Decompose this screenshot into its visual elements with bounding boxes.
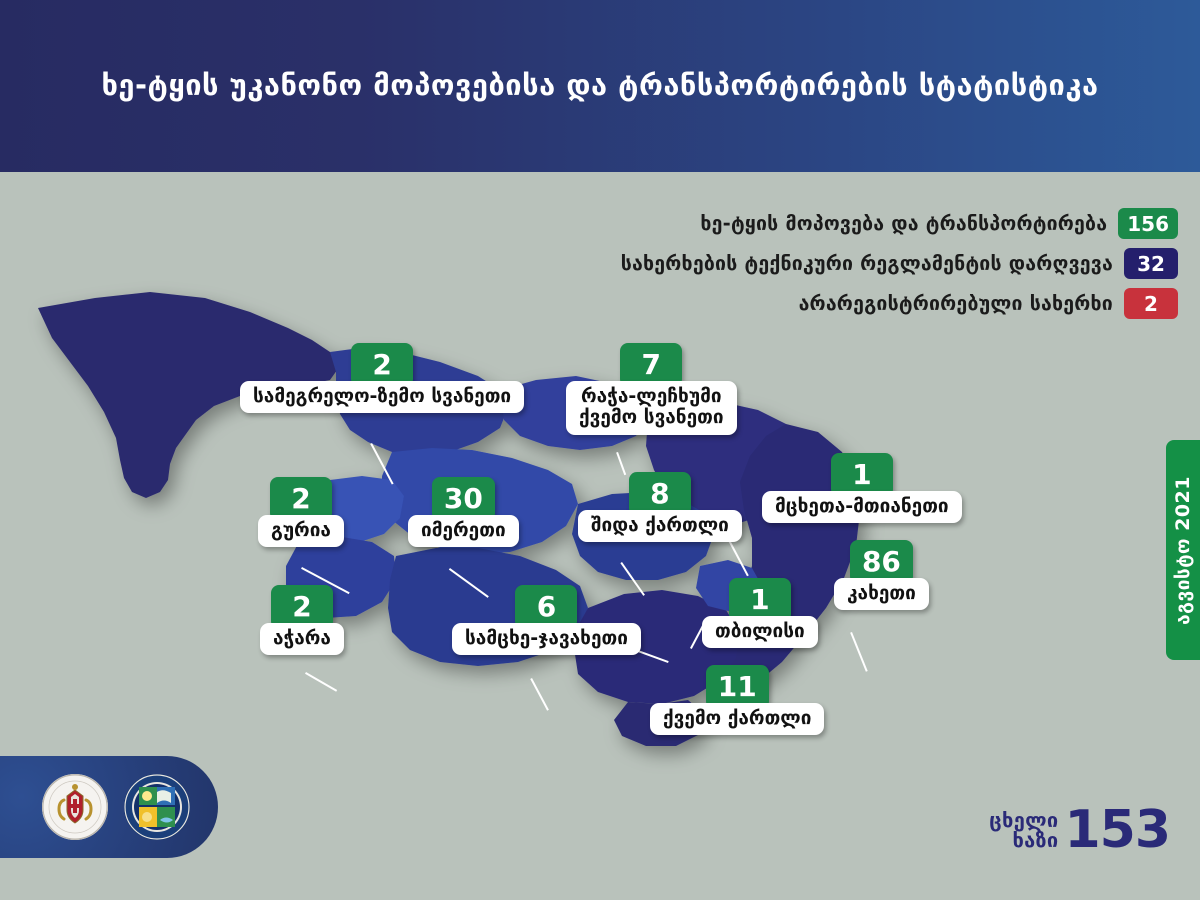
hotline-words: ცხელი ხაზი	[989, 810, 1058, 850]
map-marker-tbilisi: 1 თბილისი	[702, 578, 818, 648]
marker-label: შიდა ქართლი	[578, 510, 742, 542]
map-marker-shida-kartli: 8 შიდა ქართლი	[578, 472, 742, 542]
legend-row-sawmill-violation: სახერხების ტექნიკური რეგლამენტის დარღვევ…	[621, 248, 1178, 279]
marker-label-line2: ქვემო სვანეთი	[579, 406, 724, 428]
period-tab: აგვისტო 2021	[1166, 440, 1200, 660]
period-label: აგვისტო 2021	[1172, 476, 1194, 625]
legend-row-harvest-transport: ხე-ტყის მოპოვება და ტრანსპორტირება 156	[621, 208, 1178, 239]
map-marker-kakheti: 86 კახეთი	[834, 540, 929, 610]
marker-label: თბილისი	[702, 616, 818, 648]
marker-label: ქვემო ქართლი	[650, 703, 824, 735]
legend-value-badge: 156	[1118, 208, 1178, 239]
map-marker-adjara: 2 აჭარა	[260, 585, 344, 655]
marker-label: მცხეთა-მთიანეთი	[762, 491, 962, 523]
marker-label: რაჭა-ლეჩხუმი ქვემო სვანეთი	[566, 381, 737, 435]
marker-label: სამცხე-ჯავახეთი	[452, 623, 641, 655]
map-marker-imereti: 30 იმერეთი	[408, 477, 519, 547]
marker-label: იმერეთი	[408, 515, 519, 547]
legend-value-badge: 32	[1124, 248, 1178, 279]
agency-emblem-icon	[124, 774, 190, 840]
marker-label-line1: რაჭა-ლეჩხუმი	[581, 385, 722, 407]
marker-label: გურია	[258, 515, 344, 547]
page-title: ხე-ტყის უკანონო მოპოვებისა და ტრანსპორტი…	[101, 70, 1098, 102]
hotline-line2: ხაზი	[1013, 830, 1059, 850]
logo-badge	[0, 756, 218, 858]
hotline-line1: ცხელი	[989, 810, 1058, 830]
legend-value-badge: 2	[1124, 288, 1178, 319]
map-marker-samegrelo-zemo-svaneti: 2 სამეგრელო-ზემო სვანეთი	[240, 343, 524, 413]
hotline-number: 153	[1064, 808, 1170, 852]
marker-label: აჭარა	[260, 623, 344, 655]
hotline: ცხელი ხაზი 153	[989, 808, 1170, 852]
marker-label: კახეთი	[834, 578, 929, 610]
infographic-canvas: ხე-ტყის უკანონო მოპოვებისა და ტრანსპორტი…	[0, 0, 1200, 900]
legend-row-unregistered-sawmill: არარეგისტრირებული სახერხი 2	[621, 288, 1178, 319]
map-marker-kvemo-kartli: 11 ქვემო ქართლი	[650, 665, 824, 735]
legend-label: სახერხების ტექნიკური რეგლამენტის დარღვევ…	[621, 252, 1113, 275]
marker-label: სამეგრელო-ზემო სვანეთი	[240, 381, 524, 413]
map-marker-guria: 2 გურია	[258, 477, 344, 547]
legend: ხე-ტყის მოპოვება და ტრანსპორტირება 156 ს…	[621, 208, 1178, 319]
legend-label: ხე-ტყის მოპოვება და ტრანსპორტირება	[700, 212, 1107, 235]
map-marker-samtskhe-javakheti: 6 სამცხე-ჯავახეთი	[452, 585, 641, 655]
ministry-emblem-icon	[42, 774, 108, 840]
map-marker-racha-lechkhumi-kvemo-svaneti: 7 რაჭა-ლეჩხუმი ქვემო სვანეთი	[566, 343, 737, 435]
header-banner: ხე-ტყის უკანონო მოპოვებისა და ტრანსპორტი…	[0, 0, 1200, 172]
legend-label: არარეგისტრირებული სახერხი	[799, 292, 1113, 315]
map-marker-mtskheta-mtianeti: 1 მცხეთა-მთიანეთი	[762, 453, 962, 523]
